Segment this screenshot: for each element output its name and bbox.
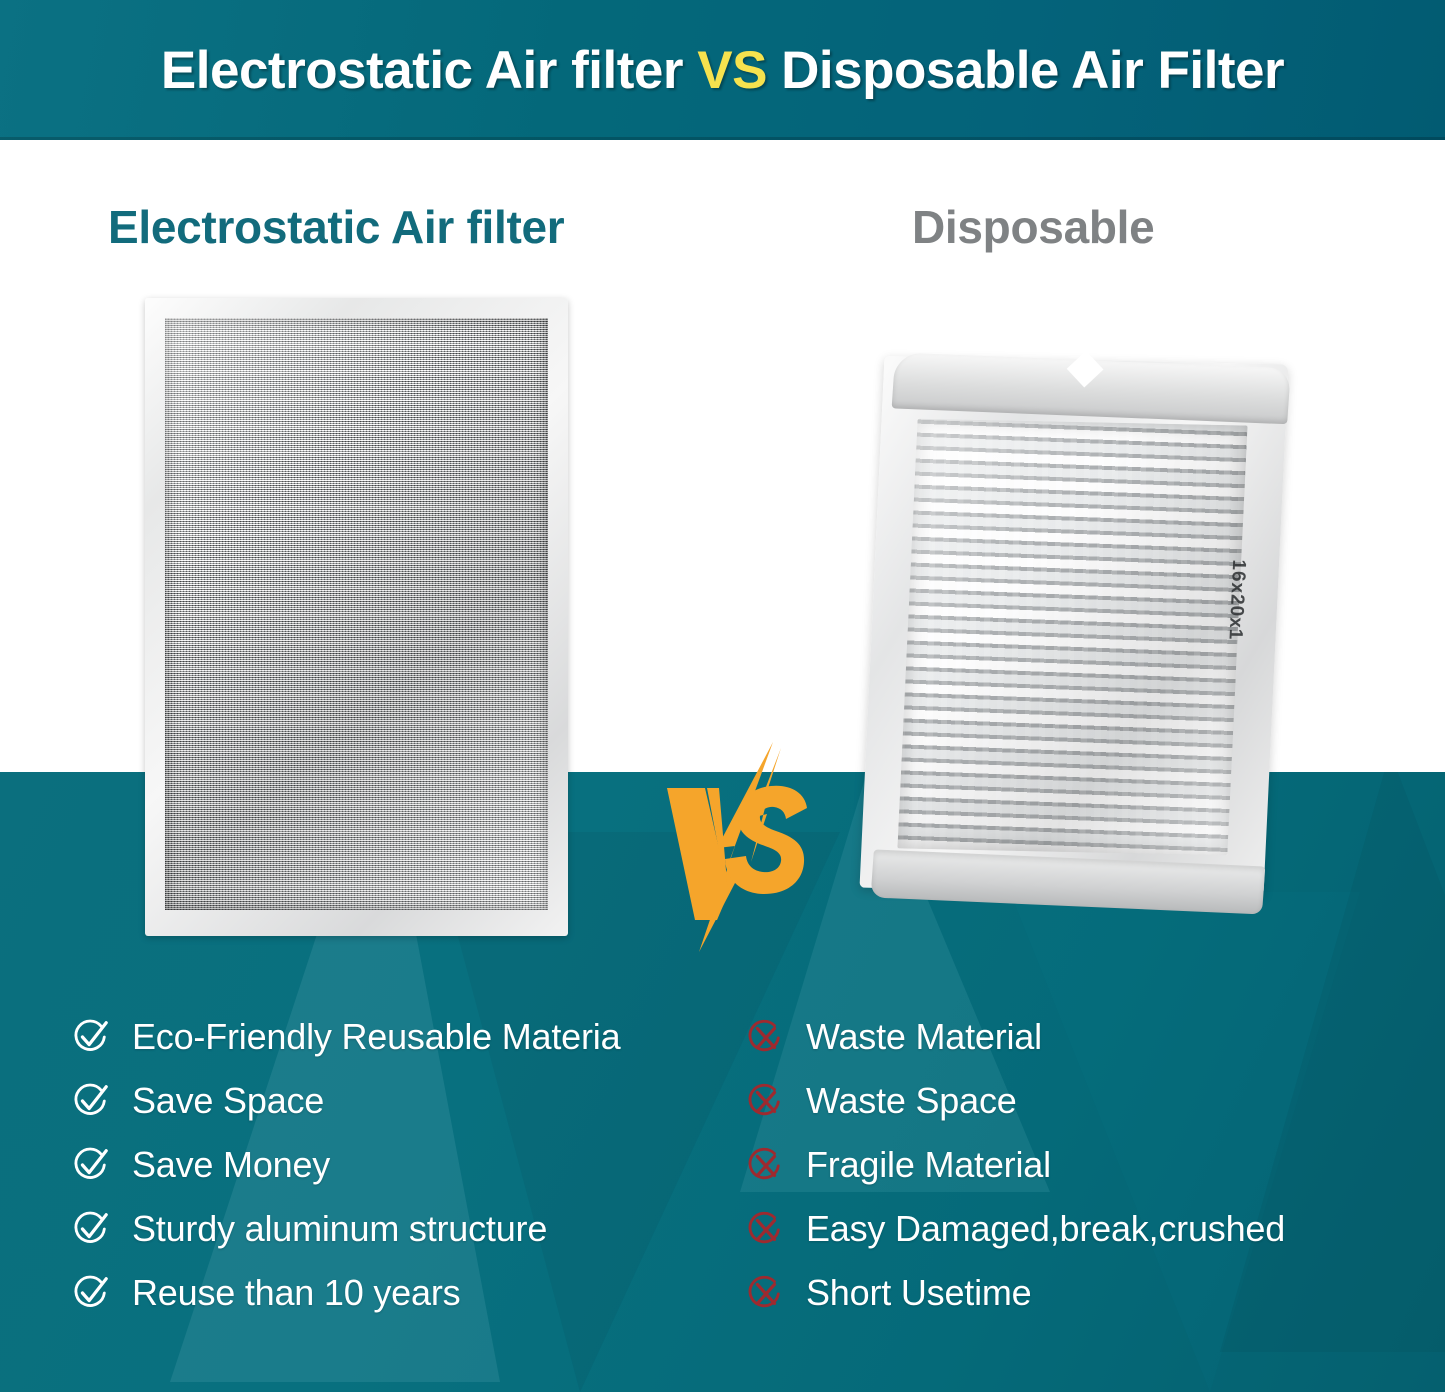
disposable-filter-size-label: 16x20x1 [1223, 559, 1249, 640]
header-banner: Electrostatic Air filter VS Disposable A… [0, 0, 1445, 140]
feature-row: Fragile Material [746, 1133, 1406, 1197]
disposable-filter-image: 16x20x1 [866, 338, 1286, 900]
feature-label: Sturdy aluminum structure [132, 1208, 547, 1250]
column-heading-disposable: Disposable [912, 200, 1154, 254]
feature-row: Save Money [72, 1133, 762, 1197]
header-title-vs: VS [697, 41, 767, 100]
feature-label: Eco-Friendly Reusable Materia [132, 1016, 620, 1058]
disposable-filter-media [897, 419, 1247, 856]
feature-row: Easy Damaged,break,crushed [746, 1197, 1406, 1261]
electrostatic-filter-mesh [165, 318, 548, 910]
x-circle-icon [746, 1210, 784, 1248]
vs-badge [655, 742, 825, 952]
feature-list-pros: Eco-Friendly Reusable Materia Save Space… [72, 1005, 762, 1325]
x-circle-icon [746, 1146, 784, 1184]
infographic-page: Electrostatic Air filter VS Disposable A… [0, 0, 1445, 1392]
feature-label: Short Usetime [806, 1272, 1031, 1314]
x-circle-icon [746, 1274, 784, 1312]
check-circle-icon [72, 1274, 110, 1312]
feature-label: Reuse than 10 years [132, 1272, 460, 1314]
disposable-filter-frame: 16x20x1 [860, 356, 1289, 896]
check-circle-icon [72, 1210, 110, 1248]
vs-letter-s [725, 786, 807, 894]
x-circle-icon [746, 1018, 784, 1056]
check-circle-icon [72, 1146, 110, 1184]
feature-row: Waste Space [746, 1069, 1406, 1133]
check-circle-icon [72, 1018, 110, 1056]
feature-row: Waste Material [746, 1005, 1406, 1069]
column-heading-electrostatic: Electrostatic Air filter [108, 200, 564, 254]
feature-label: Save Money [132, 1144, 330, 1186]
header-title: Electrostatic Air filter VS Disposable A… [161, 40, 1284, 101]
feature-label: Fragile Material [806, 1144, 1051, 1186]
check-circle-icon [72, 1082, 110, 1120]
feature-label: Save Space [132, 1080, 324, 1122]
header-title-part2: Disposable Air Filter [767, 41, 1284, 100]
feature-row: Short Usetime [746, 1261, 1406, 1325]
feature-row: Reuse than 10 years [72, 1261, 762, 1325]
feature-label: Waste Space [806, 1080, 1017, 1122]
feature-label: Easy Damaged,break,crushed [806, 1208, 1285, 1250]
electrostatic-filter-image [145, 298, 568, 936]
feature-label: Waste Material [806, 1016, 1042, 1058]
header-title-part1: Electrostatic Air filter [161, 41, 697, 100]
x-circle-icon [746, 1082, 784, 1120]
feature-row: Eco-Friendly Reusable Materia [72, 1005, 762, 1069]
feature-list-cons: Waste Material Waste Space Fragile Mater… [746, 1005, 1406, 1325]
feature-row: Save Space [72, 1069, 762, 1133]
feature-row: Sturdy aluminum structure [72, 1197, 762, 1261]
